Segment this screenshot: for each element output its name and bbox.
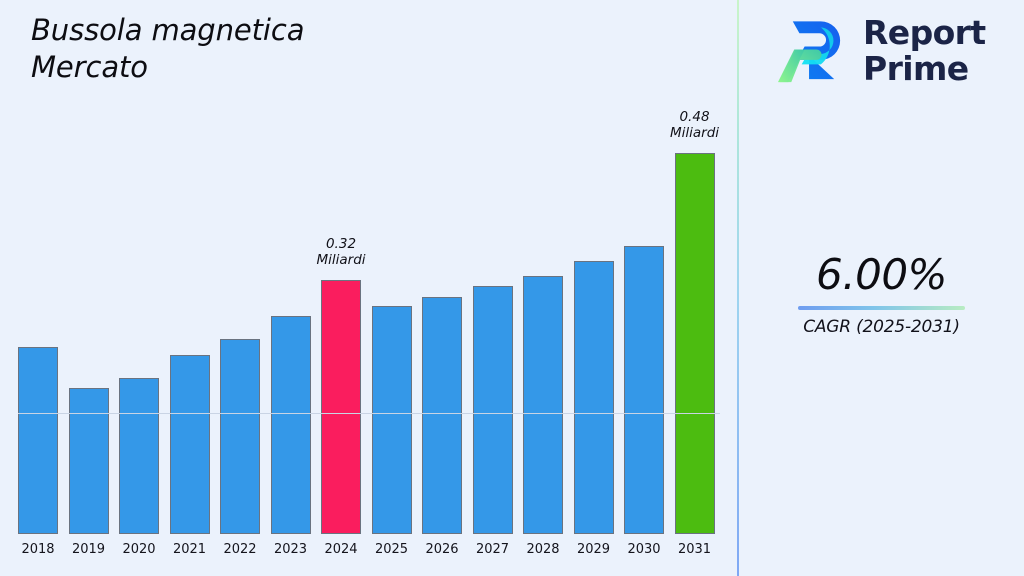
- bar-2019: [69, 388, 109, 534]
- bar-2022: [220, 339, 260, 534]
- bar-2030: [624, 246, 664, 534]
- bar-2020: [119, 378, 159, 534]
- bar-2023: [271, 316, 311, 534]
- x-tick-2023: 2023: [265, 542, 317, 557]
- x-tick-2030: 2030: [618, 542, 670, 557]
- x-tick-2022: 2022: [214, 542, 266, 557]
- cagr-divider-rule: [798, 306, 965, 310]
- x-tick-2028: 2028: [517, 542, 569, 557]
- bar-2026: [422, 297, 462, 534]
- bar-2025: [372, 306, 412, 534]
- x-tick-2018: 2018: [12, 542, 64, 557]
- bar-2021: [170, 355, 210, 534]
- x-tick-2027: 2027: [467, 542, 519, 557]
- chart-screenshot: Bussola magnetica Mercato 20182019202020…: [0, 0, 1024, 576]
- x-tick-2019: 2019: [63, 542, 115, 557]
- x-tick-2021: 2021: [164, 542, 216, 557]
- bar-2018: [18, 347, 58, 534]
- bar-2028: [523, 276, 563, 534]
- x-tick-2029: 2029: [568, 542, 620, 557]
- page-title: Bussola magnetica Mercato: [31, 12, 691, 86]
- x-tick-2024: 2024: [315, 542, 367, 557]
- bar-2029: [574, 261, 614, 534]
- bar-2027: [473, 286, 513, 534]
- side-panel: Report Prime 6.00% CAGR (2025-2031): [739, 0, 1024, 576]
- cagr-caption: CAGR (2025-2031): [739, 317, 1024, 337]
- x-axis-line: [18, 413, 720, 414]
- bar-2031: [675, 153, 715, 534]
- x-tick-2026: 2026: [416, 542, 468, 557]
- bar-2024: [321, 280, 361, 534]
- plot-area: [0, 120, 738, 534]
- cagr-block: 6.00% CAGR (2025-2031): [739, 253, 1024, 337]
- cagr-value: 6.00%: [739, 253, 1024, 297]
- x-tick-2025: 2025: [366, 542, 418, 557]
- brand-logo: Report Prime: [775, 14, 986, 88]
- chart-panel: Bussola magnetica Mercato 20182019202020…: [0, 0, 738, 576]
- brand-name: Report Prime: [863, 15, 986, 86]
- x-tick-2020: 2020: [113, 542, 165, 557]
- x-tick-2031: 2031: [669, 542, 721, 557]
- report-prime-logo-icon: [775, 14, 849, 88]
